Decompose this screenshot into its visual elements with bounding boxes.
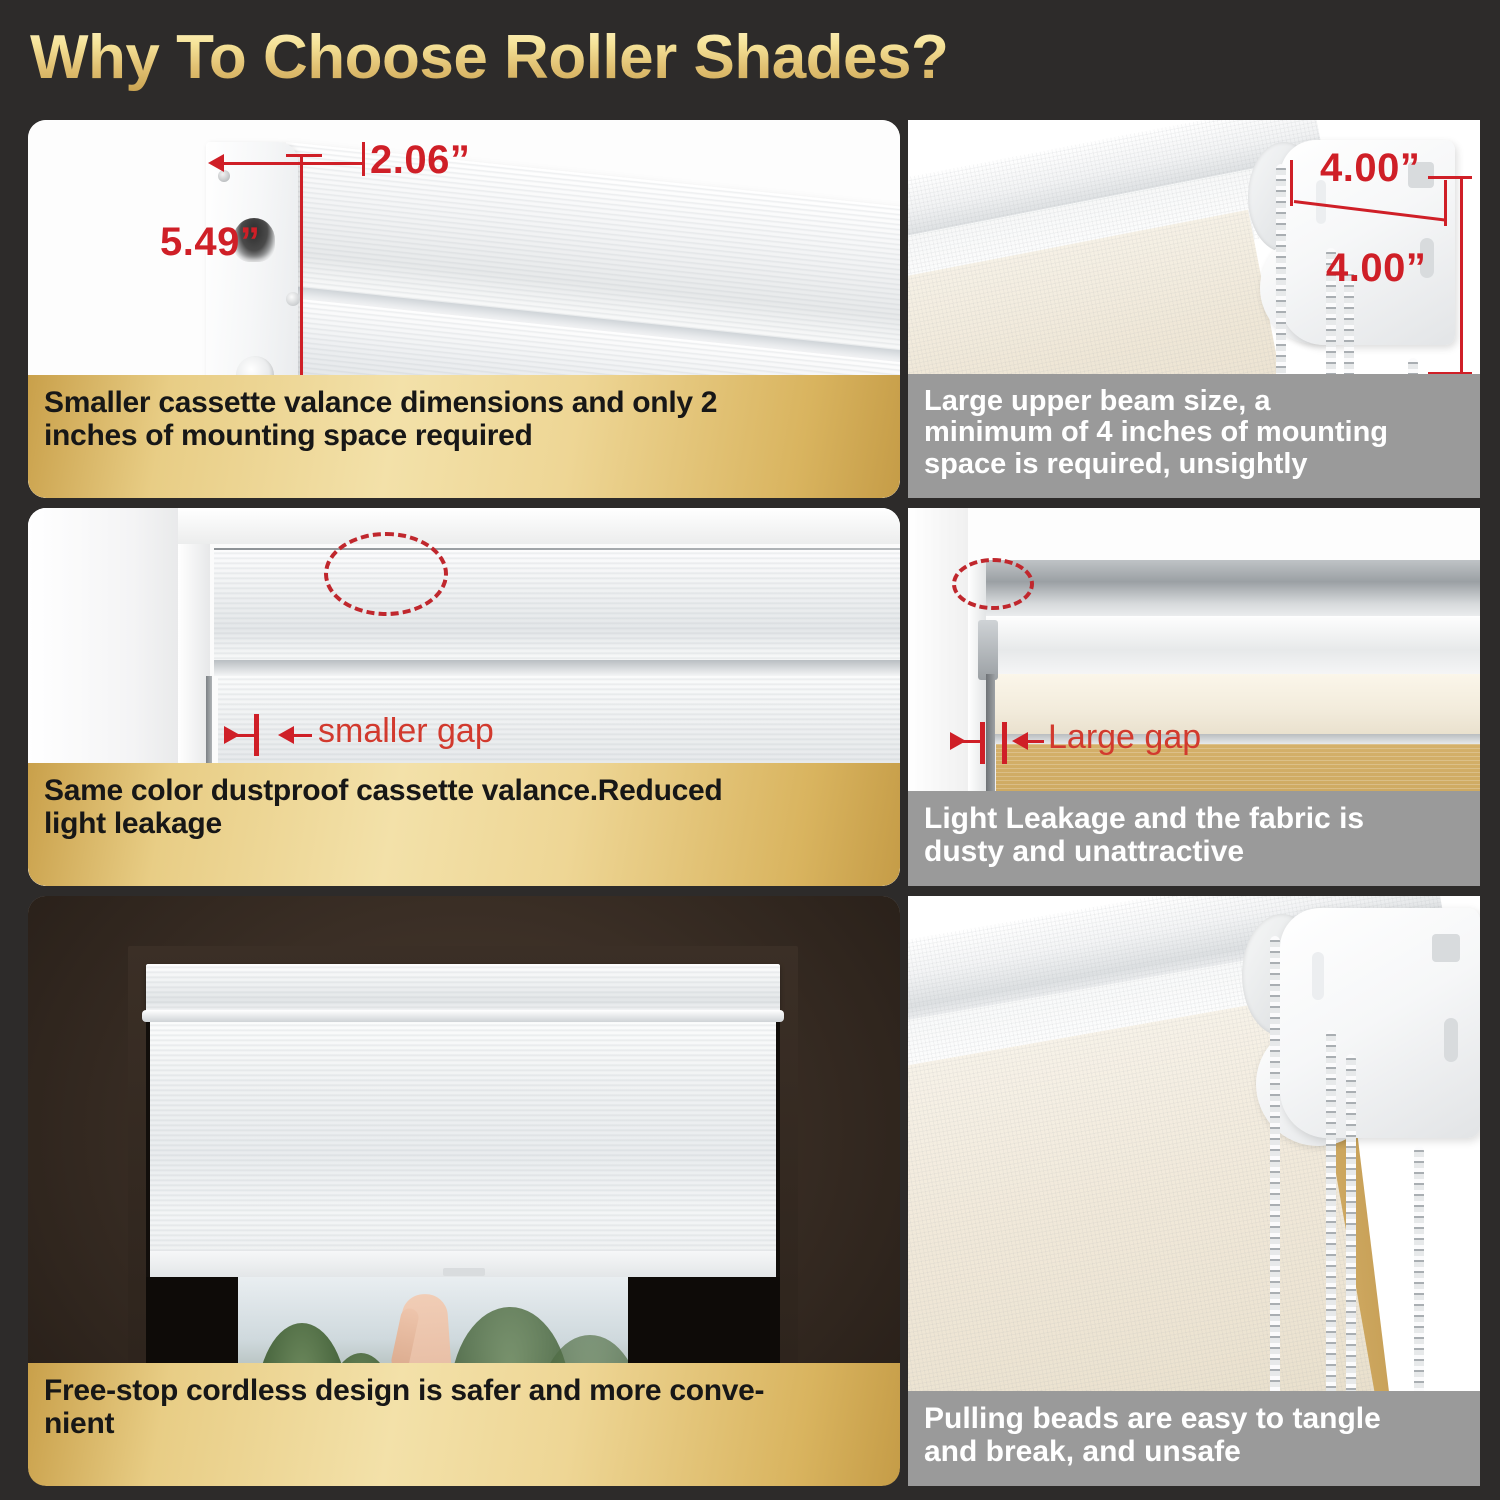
caption-line: light leakage [44, 808, 884, 840]
caption-line: minimum of 4 inches of mounting [924, 417, 1464, 448]
caption-con-light-leakage: Light Leakage and the fabric is dusty an… [908, 791, 1480, 886]
dimension-label-height: 4.00” [1326, 246, 1426, 291]
bead-chain[interactable] [1326, 1030, 1336, 1396]
bead-chain[interactable] [1414, 1146, 1424, 1396]
caption-line: nient [44, 1408, 884, 1440]
caption-pro-cordless-design: Free-stop cordless design is safer and m… [28, 1363, 900, 1486]
caption-con-pulling-beads: Pulling beads are easy to tangle and bre… [908, 1391, 1480, 1486]
caption-line: inches of mounting space required [44, 420, 884, 452]
gap-label: Large gap [1048, 718, 1201, 757]
caption-line: Smaller cassette valance dimensions and … [44, 387, 884, 419]
caption-line: Large upper beam size, a [924, 386, 1464, 417]
caption-line: Same color dustproof cassette valance.Re… [44, 775, 884, 807]
panel-pro-smaller-gap[interactable]: smaller gap Same color dustproof cassett… [28, 508, 900, 886]
caption-line: dusty and unattractive [924, 836, 1464, 868]
caption-pro-cassette-dimensions: Smaller cassette valance dimensions and … [28, 375, 900, 498]
bead-chain[interactable] [1346, 1054, 1356, 1396]
caption-line: Pulling beads are easy to tangle [924, 1403, 1464, 1435]
panel-con-pulling-beads[interactable]: Pulling beads are easy to tangle and bre… [908, 896, 1480, 1486]
gap-label: smaller gap [318, 712, 494, 751]
highlight-ellipse-gap [324, 532, 448, 616]
caption-line: Light Leakage and the fabric is [924, 803, 1464, 835]
caption-line: space is required, unsightly [924, 449, 1464, 480]
bead-chain[interactable] [1270, 936, 1280, 1396]
page-title: Why To Choose Roller Shades? [30, 22, 948, 93]
caption-con-large-beam: Large upper beam size, a minimum of 4 in… [908, 374, 1480, 498]
panel-pro-cassette-dimensions[interactable]: 2.06” 5.49” Smaller cassette valance dim… [28, 120, 900, 498]
panel-pro-cordless-design[interactable]: Free-stop cordless design is safer and m… [28, 896, 900, 1486]
caption-line: and break, and unsafe [924, 1436, 1464, 1468]
caption-line: Free-stop cordless design is safer and m… [44, 1375, 884, 1407]
header-bar: Why To Choose Roller Shades? [0, 0, 1500, 110]
dimension-label-height: 5.49” [160, 220, 260, 265]
panel-con-large-beam[interactable]: 4.00” 4.00” Large upper beam size, a min… [908, 120, 1480, 498]
dimension-label-width: 4.00” [1320, 146, 1420, 191]
comparison-grid: 2.06” 5.49” Smaller cassette valance dim… [0, 110, 1500, 1500]
dimension-label-width: 2.06” [370, 138, 470, 183]
caption-pro-smaller-gap: Same color dustproof cassette valance.Re… [28, 763, 900, 886]
highlight-ellipse-gap [952, 558, 1034, 610]
panel-con-light-leakage[interactable]: Large gap Light Leakage and the fabric i… [908, 508, 1480, 886]
